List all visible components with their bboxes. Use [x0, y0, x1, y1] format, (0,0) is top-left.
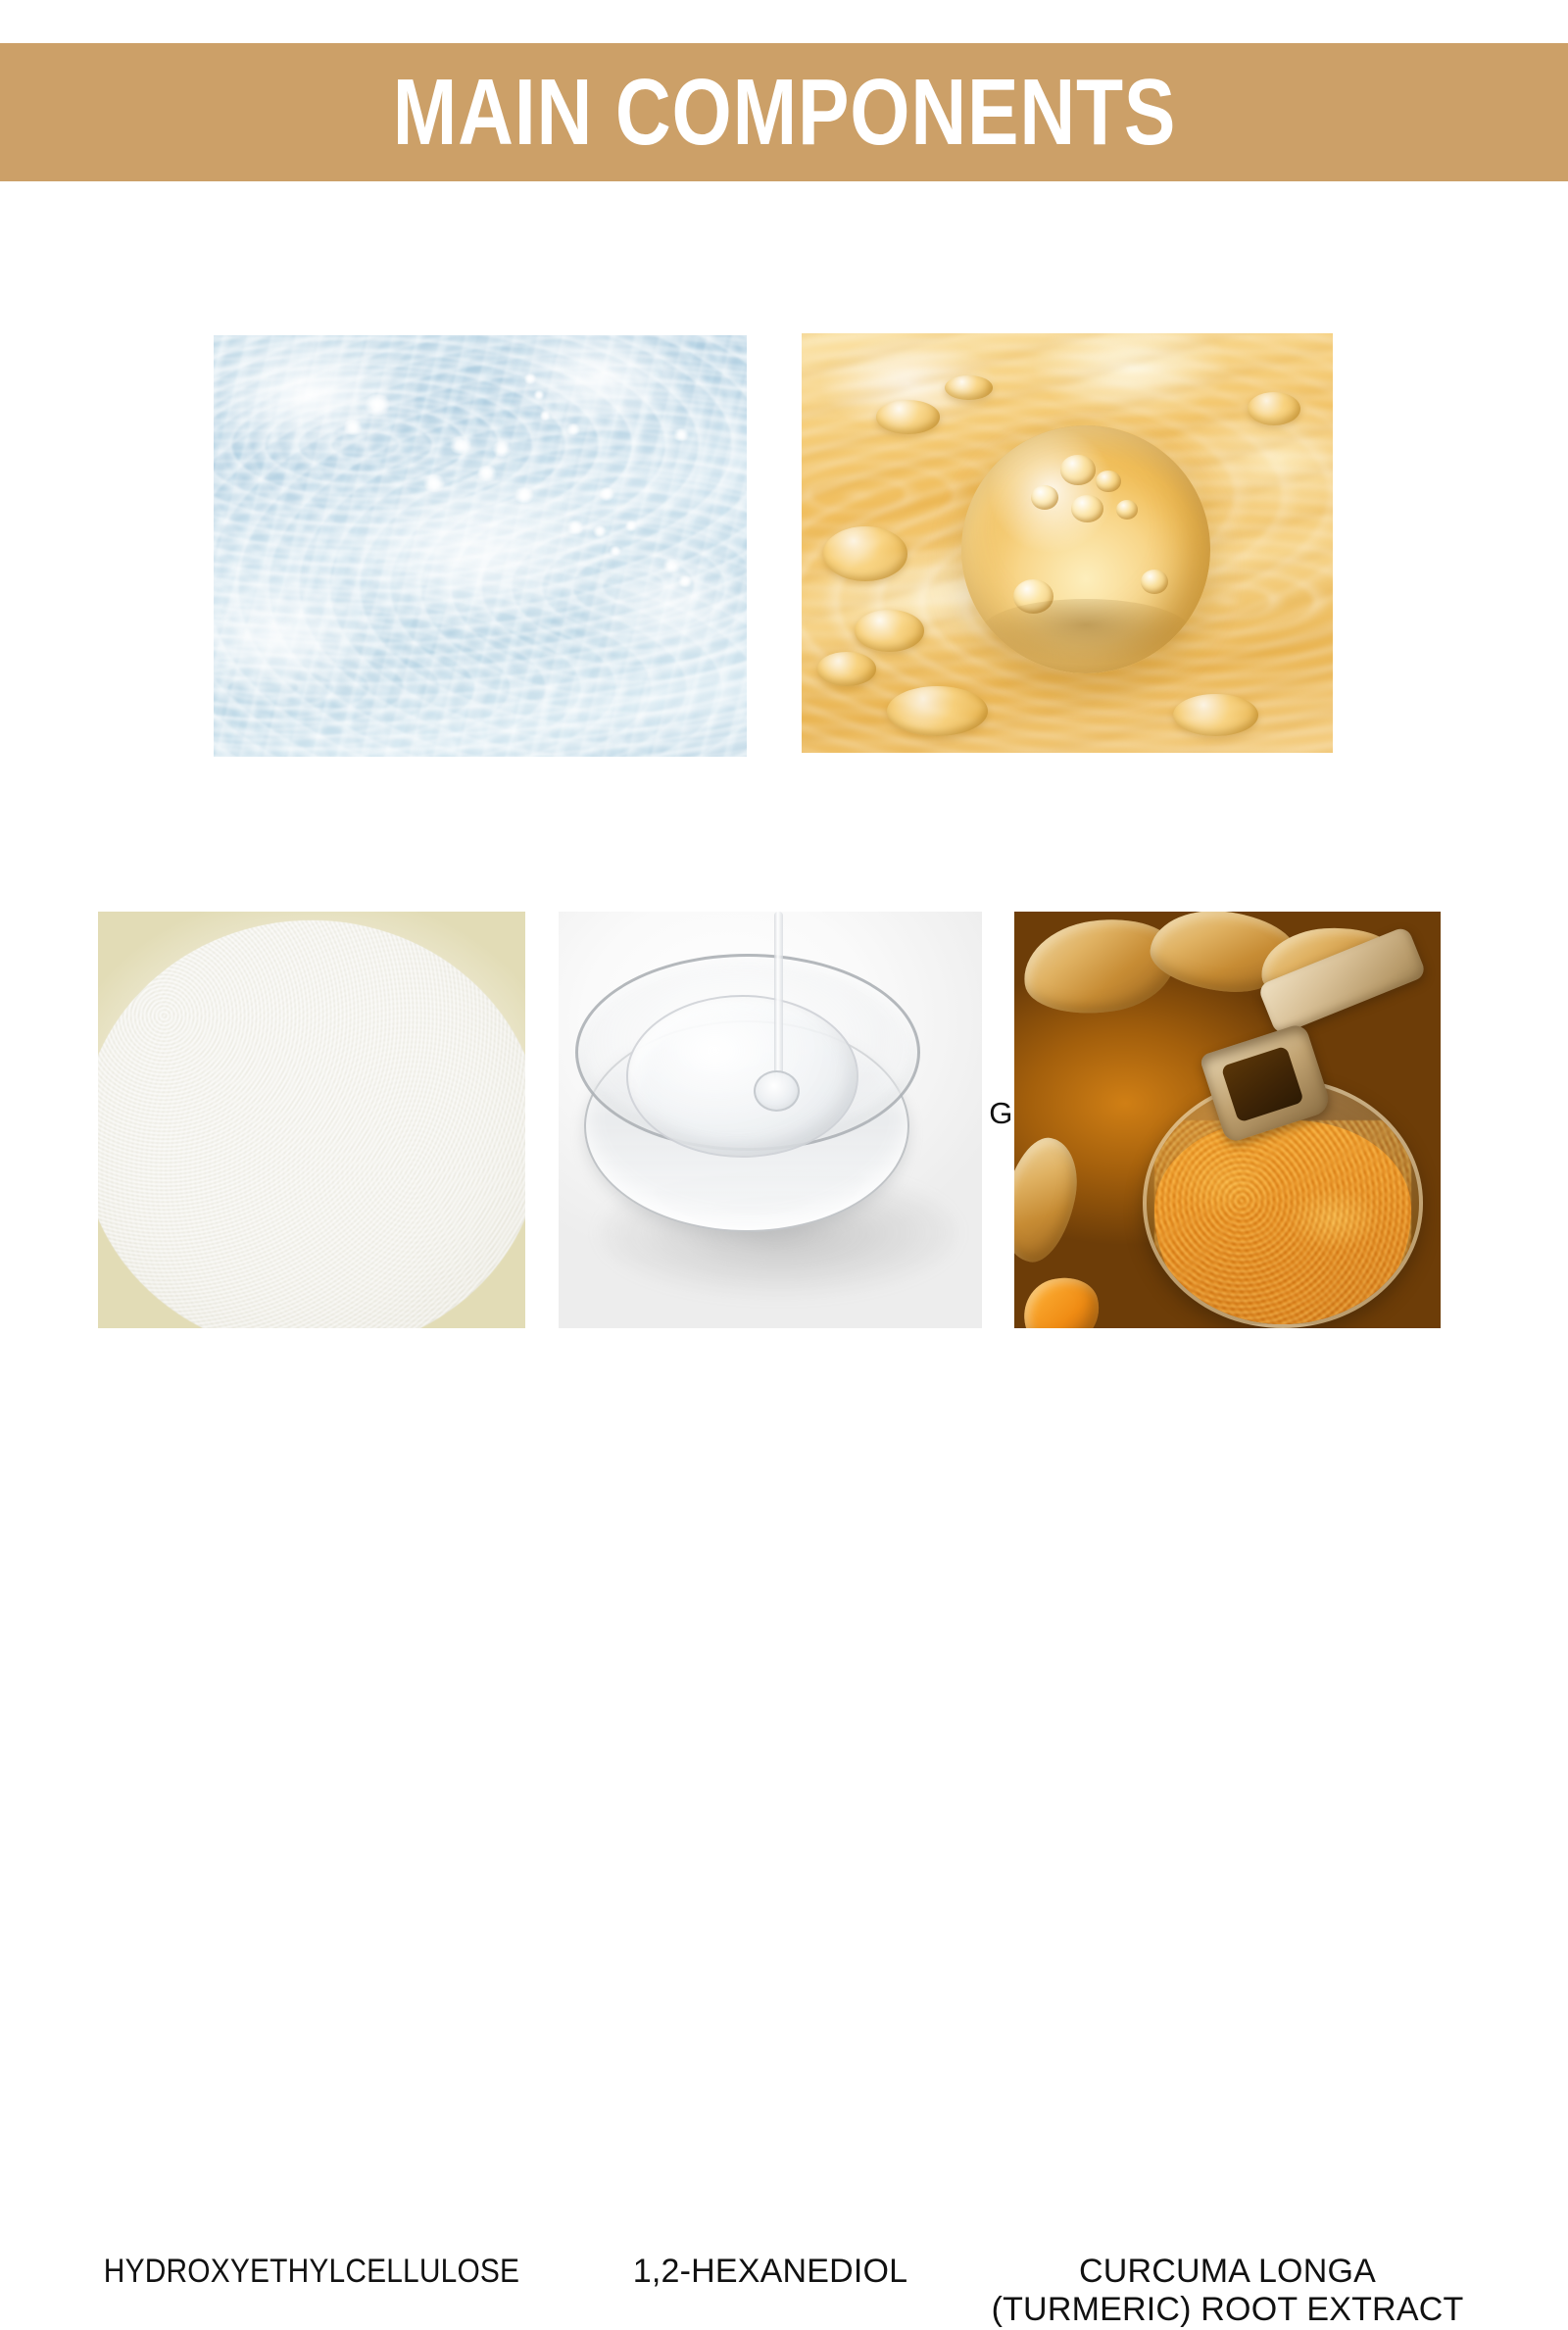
water-sparkle-icon — [513, 487, 536, 503]
sphere-bubble-icon — [1116, 500, 1139, 520]
water-sparkle-icon — [661, 559, 681, 572]
liquid-stream-graphic — [774, 912, 783, 1087]
water-sparkle-icon — [523, 373, 537, 384]
sphere-bubble-icon — [1060, 455, 1096, 484]
water-sparkle-icon — [672, 428, 690, 441]
component-card-glycerin[interactable]: GLYCERIN — [802, 333, 1333, 753]
component-label-hexanediol: 1,2-HEXANEDIOL — [633, 2253, 908, 2291]
oil-droplet-icon — [823, 526, 908, 581]
glycerin-sphere-graphic — [961, 425, 1211, 673]
header-banner: MAIN COMPONENTS — [0, 43, 1568, 181]
aqua-image — [214, 335, 747, 757]
component-card-curcuma-longa[interactable]: CURCUMA LONGA (TURMERIC) ROOT EXTRACT — [1014, 912, 1441, 1328]
hydroxyethylcellulose-image — [98, 912, 525, 1328]
hexanediol-image — [559, 912, 982, 1328]
page-title: MAIN COMPONENTS — [392, 66, 1176, 160]
liquid-impact-graphic — [754, 1070, 800, 1112]
turmeric-powder-graphic — [1154, 1120, 1411, 1327]
component-card-aqua[interactable]: AQUA — [214, 335, 747, 757]
water-ripples-secondary-graphic — [214, 335, 747, 757]
oil-droplet-icon — [887, 686, 988, 736]
sphere-bubble-icon — [1141, 570, 1168, 594]
component-label-line2: (TURMERIC) ROOT EXTRACT — [992, 2291, 1464, 2329]
component-label-curcuma-longa: CURCUMA LONGA (TURMERIC) ROOT EXTRACT — [992, 2253, 1464, 2330]
component-label-line1: CURCUMA LONGA — [992, 2253, 1464, 2291]
component-label-hydroxyethylcellulose: HYDROXYETHYLCELLULOSE — [104, 2253, 519, 2291]
water-sparkle-icon — [609, 546, 622, 556]
water-sparkle-icon — [491, 441, 513, 457]
water-sparkle-icon — [342, 420, 364, 435]
curcuma-longa-image — [1014, 912, 1441, 1328]
sphere-bubble-icon — [1031, 485, 1058, 510]
sphere-bubble-icon — [1013, 579, 1053, 614]
water-sparkle-icon — [421, 474, 447, 492]
water-sparkle-icon — [598, 487, 615, 501]
powder-texture — [1154, 1120, 1411, 1327]
component-card-hydroxyethylcellulose[interactable]: HYDROXYETHYLCELLULOSE — [98, 912, 525, 1328]
sphere-bubble-icon — [1096, 471, 1120, 493]
oil-droplet-icon — [817, 652, 876, 685]
water-sparkle-icon — [475, 466, 499, 481]
white-powder-mound-graphic — [98, 920, 525, 1329]
main-components-infographic: MAIN COMPONENTS AQUA — [0, 0, 1568, 1568]
water-sparkle-icon — [592, 525, 608, 537]
oil-droplet-icon — [1173, 694, 1258, 736]
powder-grain-texture — [98, 920, 525, 1329]
component-card-hexanediol[interactable]: 1,2-HEXANEDIOL — [559, 912, 982, 1328]
clear-liquid-graphic — [626, 995, 858, 1158]
oil-droplet-icon — [876, 400, 940, 433]
glycerin-image — [802, 333, 1333, 753]
sphere-bubble-icon — [1071, 495, 1103, 522]
oil-droplet-icon — [855, 610, 923, 652]
